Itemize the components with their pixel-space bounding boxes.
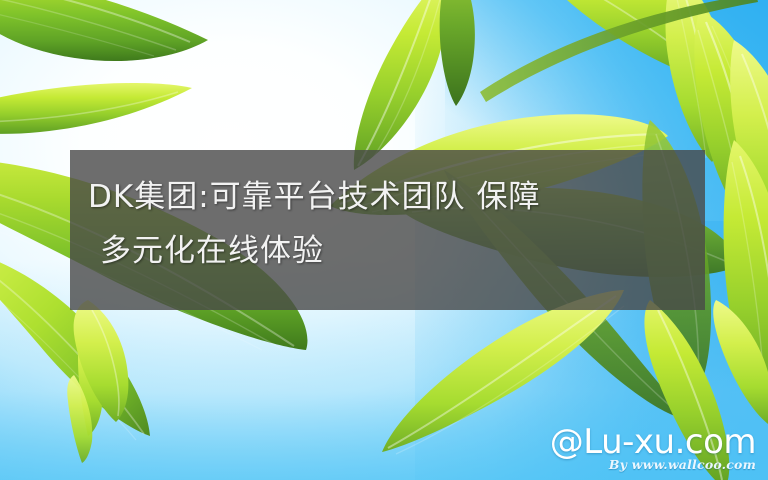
caption-line-1: DK集团:可靠平台技术团队 保障 [88, 170, 705, 224]
caption-band: DK集团:可靠平台技术团队 保障 多元化在线体验 [70, 150, 705, 310]
leaf-bottom-left-sliver [52, 375, 112, 465]
leaf-bottom-right-tip [700, 300, 768, 430]
watermark: @Lu-xu.com By www.wallcoo.com [550, 424, 756, 472]
leaf-top-right-stem [480, 0, 760, 110]
watermark-main-text: @Lu-xu.com [550, 424, 756, 460]
caption-line-2: 多元化在线体验 [88, 224, 705, 278]
banner-image: DK集团:可靠平台技术团队 保障 多元化在线体验 @Lu-xu.com By w… [0, 0, 768, 480]
